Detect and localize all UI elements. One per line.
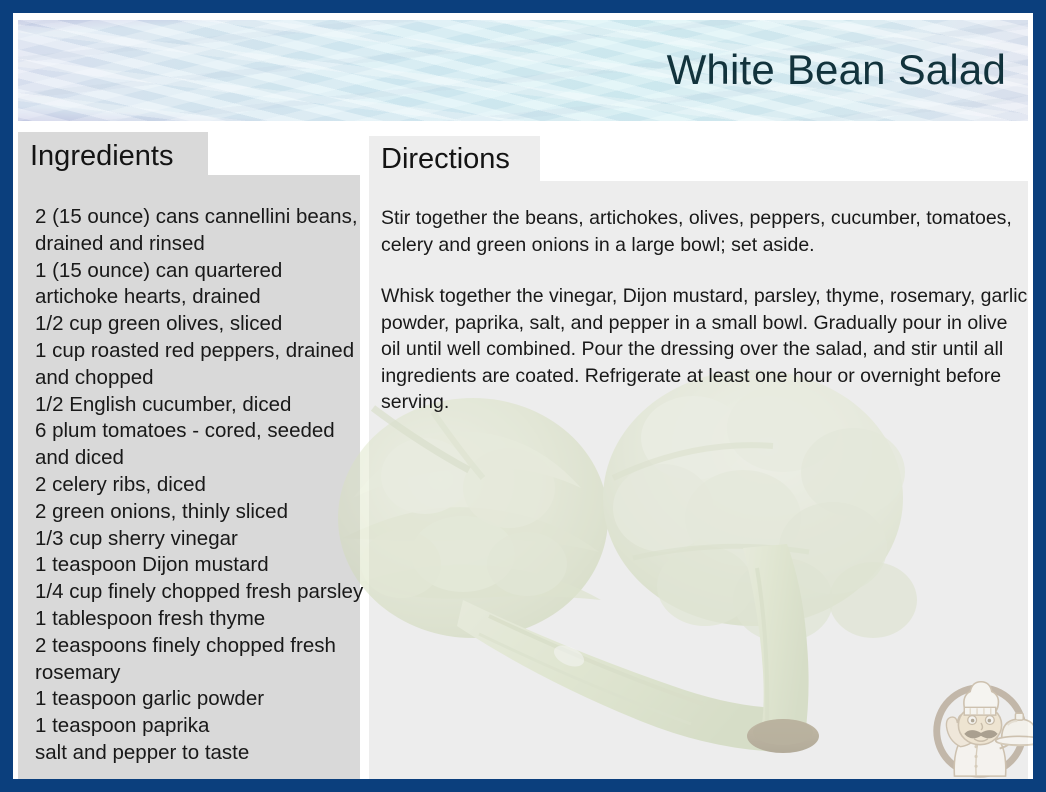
list-item: 1 tablespoon fresh thyme xyxy=(35,606,365,633)
page-title: White Bean Salad xyxy=(667,48,1006,92)
list-item: 1/4 cup finely chopped fresh parsley xyxy=(35,579,365,606)
list-item: 2 celery ribs, diced xyxy=(35,472,365,499)
direction-step: Stir together the beans, artichokes, oli… xyxy=(381,205,1031,258)
list-item: 2 teaspoons finely chopped fresh rosemar… xyxy=(35,633,365,687)
tab-ingredients-label: Ingredients xyxy=(30,137,174,175)
directions-text: Stir together the beans, artichokes, oli… xyxy=(381,205,1031,416)
list-item: 2 green onions, thinly sliced xyxy=(35,499,365,526)
recipe-card-inner: White Bean Salad xyxy=(13,13,1033,779)
tab-directions-label: Directions xyxy=(381,140,510,178)
list-item: 1/2 English cucumber, diced xyxy=(35,392,365,419)
list-item: 1 (15 ounce) can quartered artichoke hea… xyxy=(35,258,365,312)
direction-step: Whisk together the vinegar, Dijon mustar… xyxy=(381,283,1031,416)
chef-with-serving-dome-logo xyxy=(921,665,1039,785)
list-item: 1 cup roasted red peppers, drained and c… xyxy=(35,338,365,392)
header-banner: White Bean Salad xyxy=(18,20,1028,121)
list-item: 1 teaspoon paprika xyxy=(35,713,365,740)
list-item: 6 plum tomatoes - cored, seeded and dice… xyxy=(35,418,365,472)
list-item: 1/3 cup sherry vinegar xyxy=(35,526,365,553)
list-item: 1 teaspoon Dijon mustard xyxy=(35,552,365,579)
list-item: 1 teaspoon garlic powder xyxy=(35,686,365,713)
list-item: 1/2 cup green olives, sliced xyxy=(35,311,365,338)
ingredients-list: 2 (15 ounce) cans cannellini beans, drai… xyxy=(35,204,365,767)
list-item: 2 (15 ounce) cans cannellini beans, drai… xyxy=(35,204,365,258)
recipe-card: White Bean Salad xyxy=(0,0,1046,792)
list-item: salt and pepper to taste xyxy=(35,740,365,767)
